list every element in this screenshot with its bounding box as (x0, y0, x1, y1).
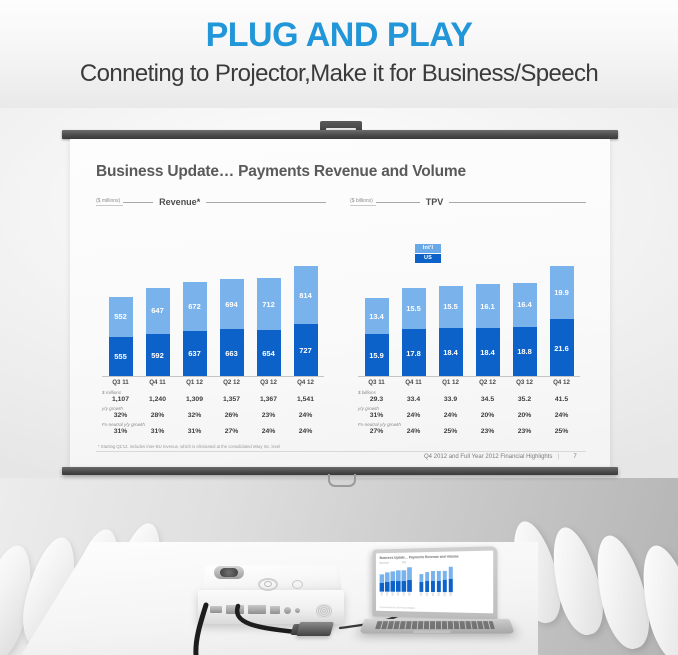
mini-bar-segment-intl (436, 571, 440, 581)
mini-bar-segment-intl (390, 571, 394, 581)
mini-section-revenue: Revenue* (380, 561, 389, 564)
mini-slide-sections: Revenue* TPV (380, 560, 489, 565)
mini-bar (431, 571, 435, 591)
mini-chart-tpv (419, 565, 453, 591)
mini-bar (380, 574, 384, 591)
mini-table-cell: Q4 12 (407, 592, 411, 597)
mini-bar-segment-us (380, 583, 384, 591)
mini-chart-revenue (380, 566, 412, 592)
laptop-base (359, 619, 515, 634)
mini-bar (402, 570, 406, 591)
mini-bar (436, 571, 440, 592)
mini-bar-segment-us (442, 580, 446, 591)
mini-bar (419, 574, 423, 591)
mini-bar-segment-us (425, 581, 429, 591)
mini-bar (407, 567, 411, 591)
mini-bar-segment-us (385, 582, 389, 591)
mini-table-cell: Q3 11 (380, 592, 384, 597)
mini-bar-segment-intl (385, 572, 389, 582)
vga-cable (237, 606, 296, 632)
mini-table-cell: Q1 12 (431, 592, 435, 597)
mini-bar (442, 571, 446, 592)
mini-bar (425, 572, 429, 592)
mini-bar-segment-us (407, 580, 411, 591)
mini-bar (448, 567, 453, 592)
mini-bar-segment-us (436, 581, 440, 592)
mini-bar-segment-intl (425, 572, 429, 581)
mini-bar (396, 570, 400, 591)
mini-bar-segment-us (390, 581, 394, 591)
mini-table-cell: Q3 12 (402, 592, 406, 597)
mini-bar-segment-intl (380, 574, 384, 582)
mini-slide-footer: Q4 2012 and Full Year 2012 Financial Hig… (380, 607, 416, 610)
mini-charts (380, 565, 489, 592)
mini-bar-segment-intl (431, 571, 435, 580)
mini-bar (385, 572, 389, 591)
mini-bar-segment-intl (396, 570, 400, 581)
mini-bar-segment-us (419, 582, 423, 591)
power-cable (196, 605, 206, 655)
mini-bar-segment-us (402, 581, 406, 591)
usb-c-adapter (296, 622, 334, 636)
mini-section-tpv: TPV (402, 561, 406, 564)
mini-table-cell: Q3 11 (419, 592, 423, 597)
banner-title: PLUG AND PLAY (0, 0, 678, 52)
cable-group (0, 108, 678, 655)
mini-bar-segment-us (431, 581, 435, 592)
mini-bar-segment-intl (442, 571, 446, 581)
banner-subtitle: Conneting to Projector,Make it for Busin… (0, 52, 678, 87)
laptop-lid: Business Update… Payments Revenue and Vo… (372, 546, 497, 620)
laptop-mini-slide: Business Update… Payments Revenue and Vo… (376, 551, 493, 614)
mini-tables: Q3 11Q4 11Q1 12Q2 12Q3 12Q4 12 Q3 11Q4 1… (380, 592, 489, 598)
mini-bar-segment-us (448, 579, 453, 592)
laptop-trackpad[interactable] (413, 630, 450, 633)
mini-table-tpv: Q3 11Q4 11Q1 12Q2 12Q3 12Q4 12 (419, 592, 453, 597)
mini-table-cell: Q2 12 (396, 592, 400, 597)
header-banner: PLUG AND PLAY Conneting to Projector,Mak… (0, 0, 678, 108)
mini-bar-segment-us (396, 581, 400, 591)
mini-table-cell: Q4 11 (385, 592, 389, 597)
mini-table-cell: Q1 12 (390, 592, 394, 597)
conference-room-scene: Business Update… Payments Revenue and Vo… (0, 108, 678, 655)
laptop-keyboard[interactable] (375, 621, 495, 629)
mini-table-revenue: Q3 11Q4 11Q1 12Q2 12Q3 12Q4 12 (380, 592, 412, 597)
mini-bar (390, 571, 394, 591)
mini-table-cell: Q2 12 (436, 593, 440, 598)
mini-bar-segment-intl (448, 567, 453, 579)
mini-table-cell: Q3 12 (442, 593, 446, 598)
mini-table-cell: Q4 12 (448, 593, 453, 598)
mini-table-cell: Q4 11 (425, 592, 429, 597)
laptop-display[interactable]: Business Update… Payments Revenue and Vo… (376, 551, 493, 614)
mini-bar-segment-intl (407, 567, 411, 580)
laptop-device: Business Update… Payments Revenue and Vo… (362, 548, 512, 644)
mini-bar-segment-intl (419, 574, 423, 582)
mini-bar-segment-intl (402, 570, 406, 581)
